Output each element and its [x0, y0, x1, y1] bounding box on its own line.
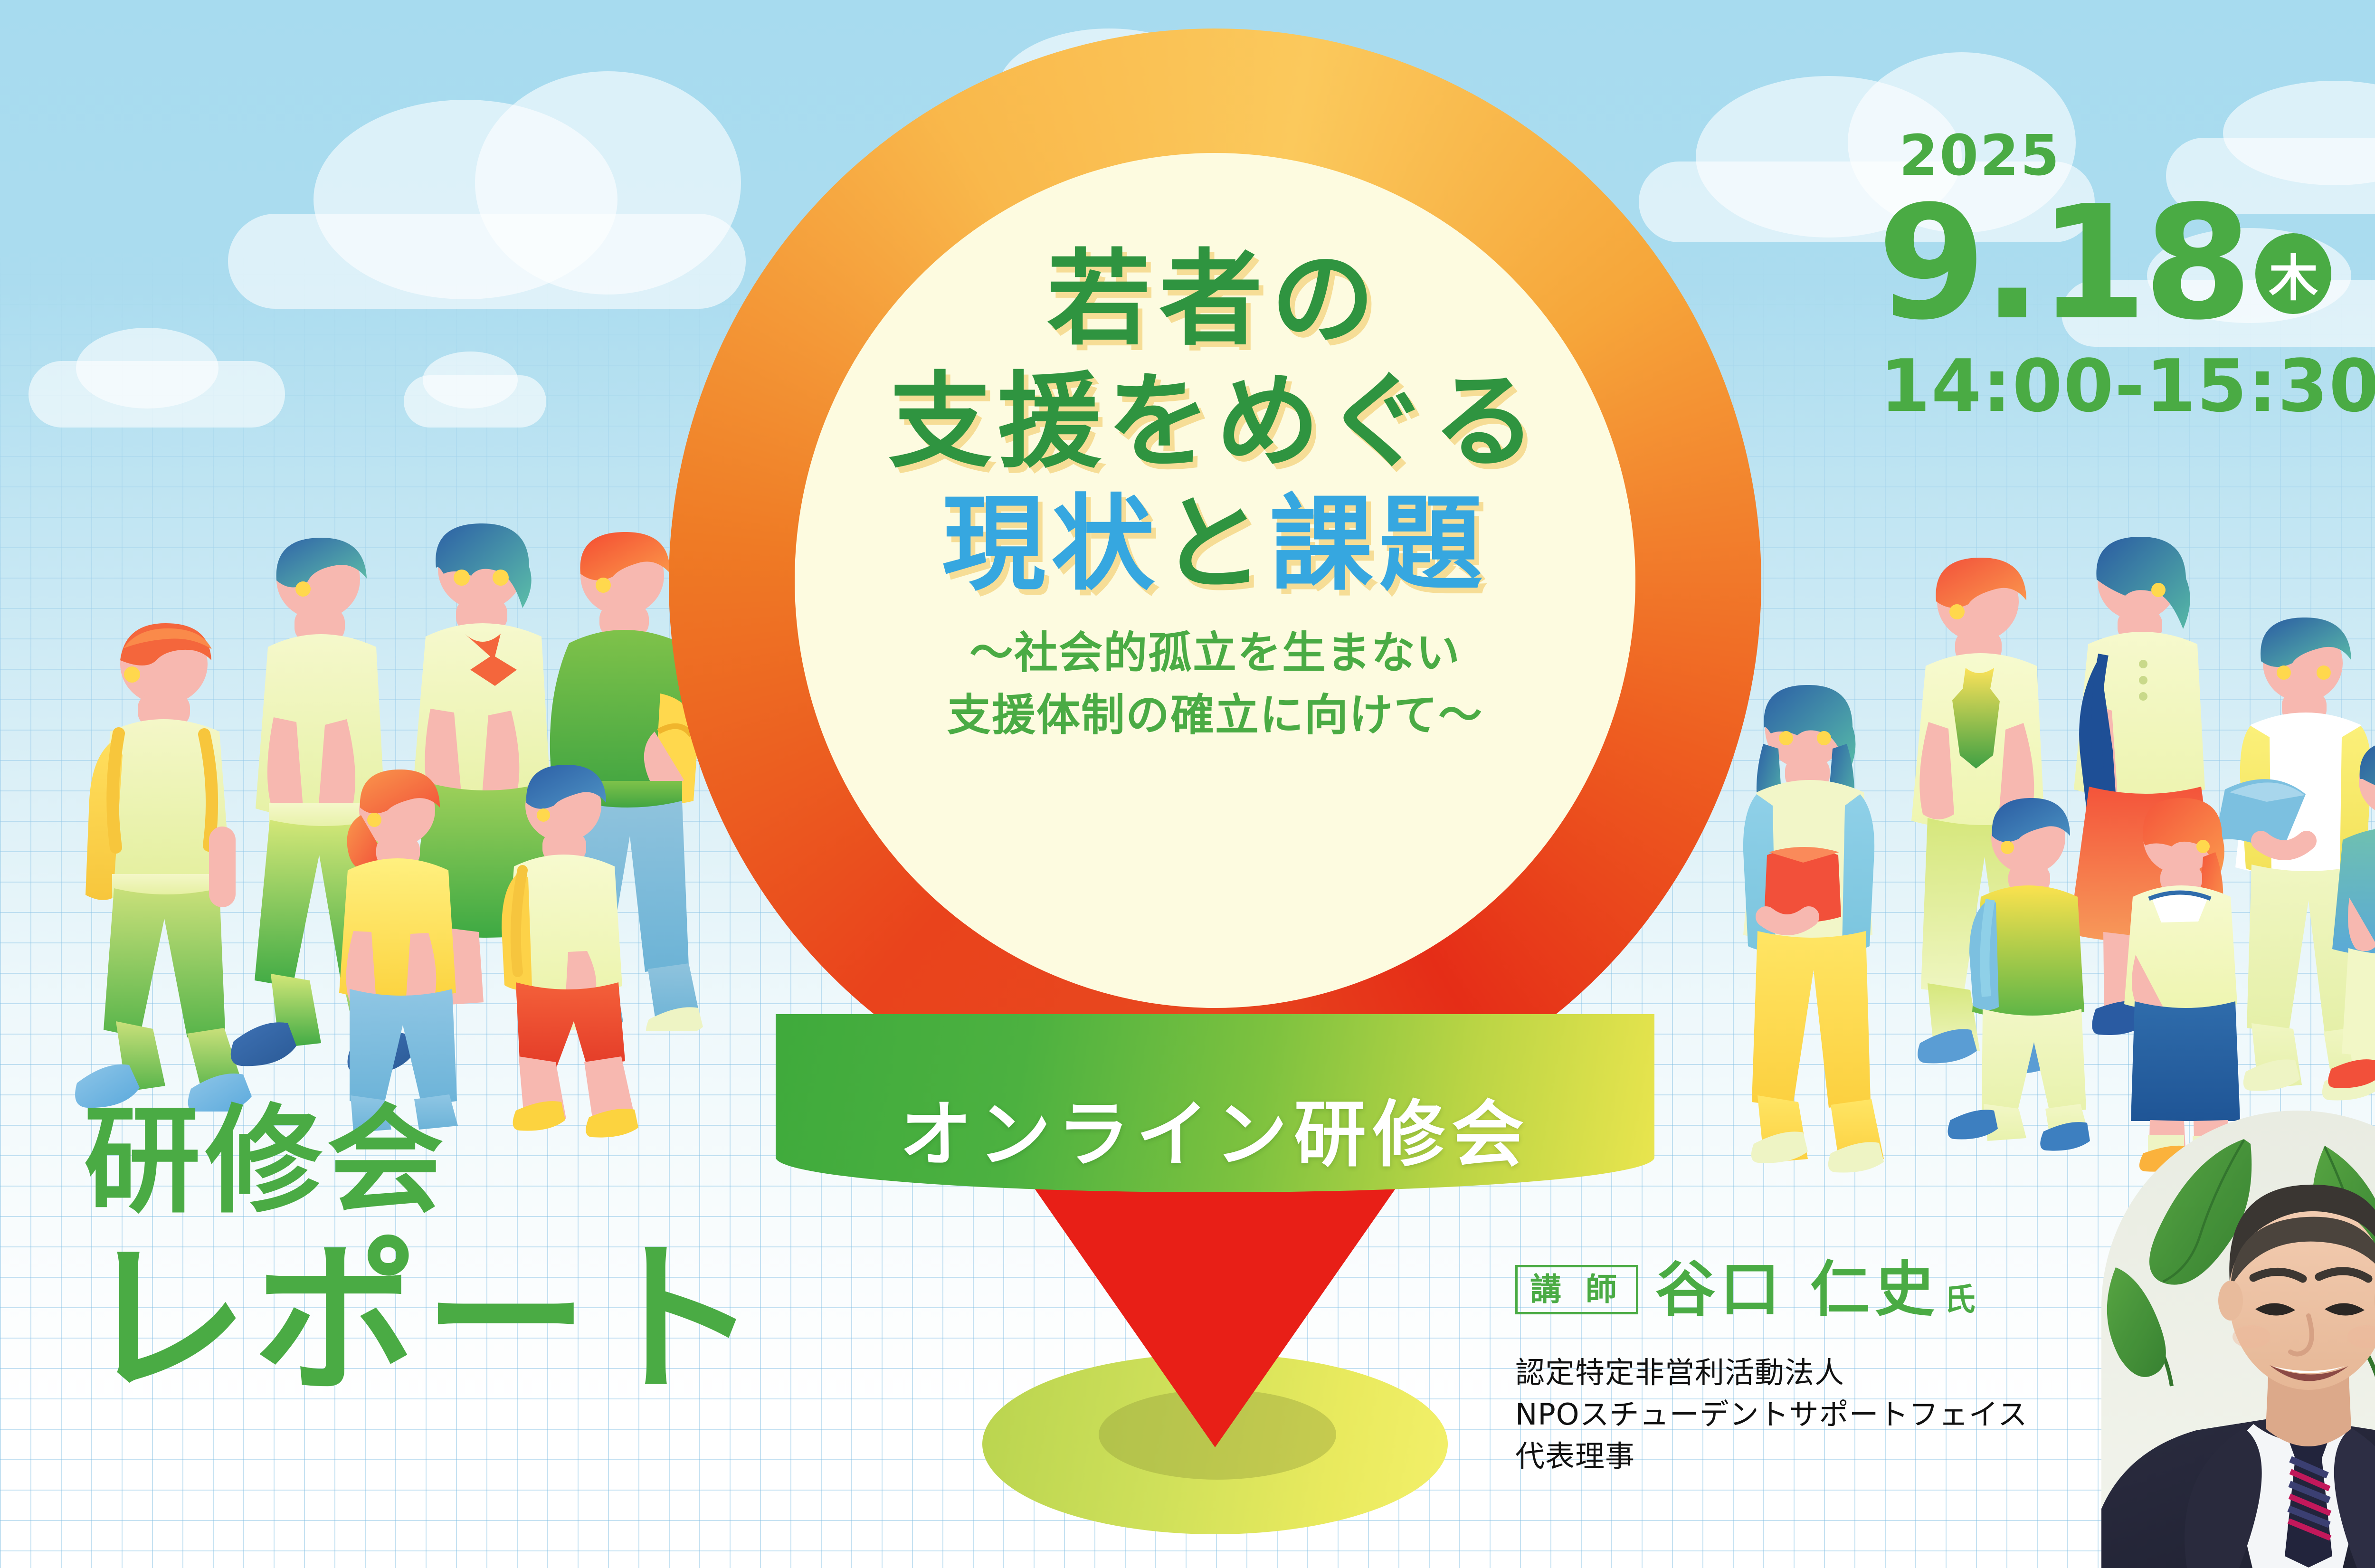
speaker-name-text: 谷口 仁史	[1655, 1254, 1939, 1324]
title-line-3-part-1: 現	[942, 485, 1051, 605]
event-date-row: 9.18 木	[1877, 188, 2375, 339]
illustration-person-right-6-child	[2090, 798, 2266, 1173]
illustration-person-left-6-child	[470, 765, 651, 1140]
title-line-3-part-2: 状	[1051, 485, 1160, 605]
speaker-info: 講 師 谷口 仁史氏 認定特定非営利活動法人 NPOスチューデントサポートフェイ…	[1515, 1260, 2095, 1477]
cloud-small-left	[28, 328, 294, 428]
ribbon-tail-right	[1583, 1026, 1654, 1111]
ribbon-tail-left	[776, 1026, 847, 1111]
report-headline-line-1: 研修会	[84, 1101, 764, 1223]
speaker-name-row: 講 師 谷口 仁史氏	[1515, 1260, 2095, 1320]
speaker-org-line-2: NPOスチューデントサポートフェイス	[1515, 1394, 2095, 1435]
title-line-3-part-3: と	[1160, 485, 1270, 605]
title-line-3: 現状と課題	[942, 493, 1488, 597]
illustration-person-right-7-child	[2313, 741, 2375, 1102]
subtitle-line-1: 〜社会的孤立を生まない	[947, 622, 1483, 684]
title-line-1-text: 若者の	[1047, 239, 1383, 360]
poster-canvas: 若者の 支援をめぐる 現状と課題 〜社会的孤立を生まない 支援体制の確立に向けて…	[0, 0, 2375, 1568]
speaker-honorific: 氏	[1944, 1281, 1980, 1318]
illustration-person-left-5-child	[304, 770, 484, 1140]
report-headline-line-2: レポート	[84, 1233, 764, 1407]
cloud-tiny-left	[404, 352, 546, 428]
speaker-name: 谷口 仁史氏	[1655, 1260, 1980, 1320]
event-time: 14:00-15:30	[1880, 350, 2375, 422]
event-month-day: 9.18	[1877, 188, 2249, 339]
title-line-3-part-4: 課	[1270, 485, 1379, 605]
subtitle: 〜社会的孤立を生まない 支援体制の確立に向けて〜	[947, 622, 1483, 746]
event-date-block: 2025 9.18 木 14:00-15:30	[1877, 127, 2375, 422]
speaker-organization: 認定特定非営利活動法人 NPOスチューデントサポートフェイス 代表理事	[1515, 1352, 2095, 1477]
title-line-2-text: 支援をめぐる	[888, 362, 1542, 482]
speaker-tag: 講 師	[1515, 1265, 1638, 1314]
report-headline: 研修会 レポート	[84, 1101, 764, 1407]
illustration-person-right-5-child	[1938, 798, 2114, 1159]
title-line-3-part-5: 題	[1379, 485, 1488, 605]
pin-inner-circle: 若者の 支援をめぐる 現状と課題 〜社会的孤立を生まない 支援体制の確立に向けて…	[795, 153, 1635, 1008]
title-line-1: 若者の	[1047, 248, 1383, 352]
day-of-week-badge: 木	[2255, 233, 2331, 314]
subtitle-line-2: 支援体制の確立に向けて〜	[947, 684, 1483, 747]
title-line-2: 支援をめぐる	[888, 371, 1542, 474]
speaker-org-line-1: 認定特定非営利活動法人	[1515, 1352, 2095, 1394]
speaker-org-line-3: 代表理事	[1515, 1435, 2095, 1477]
